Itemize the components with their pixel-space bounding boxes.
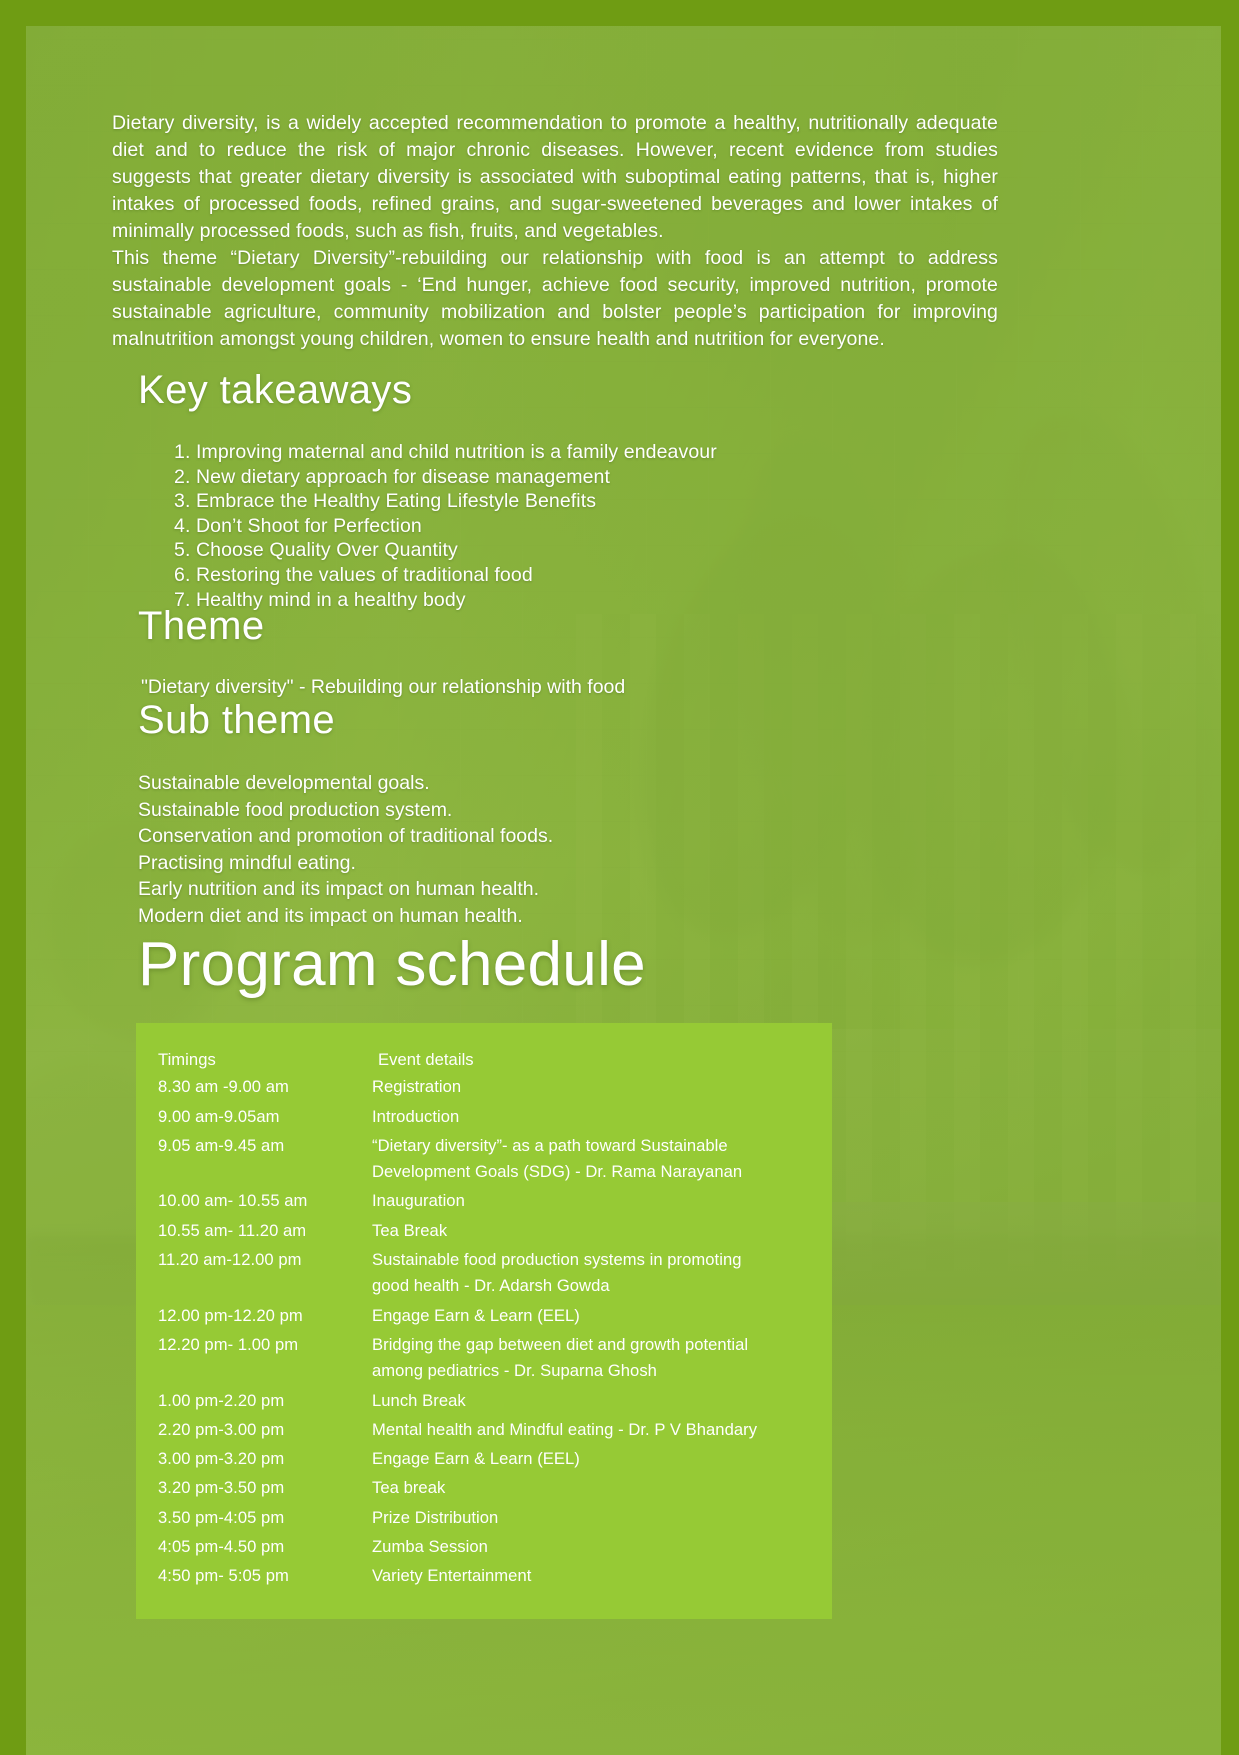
table-row: 10.00 am- 10.55 am Inauguration <box>158 1188 810 1217</box>
table-row: 4:05 pm-4.50 pm Zumba Session <box>158 1534 810 1563</box>
poster-root: Dietary diversity, is a widely accepted … <box>0 0 1239 1755</box>
schedule-detail-line: Engage Earn & Learn (EEL) <box>372 1449 580 1468</box>
schedule-detail-line: Inauguration <box>372 1191 465 1210</box>
schedule-time: 4:05 pm-4.50 pm <box>158 1534 370 1563</box>
schedule-detail: Mental health and Mindful eating - Dr. P… <box>370 1417 810 1446</box>
schedule-time: 2.20 pm-3.00 pm <box>158 1417 370 1446</box>
key-takeaways-list: Improving maternal and child nutrition i… <box>174 440 958 612</box>
schedule-detail-line: Tea break <box>372 1478 445 1497</box>
schedule-detail: Sustainable food production systems in p… <box>370 1247 810 1303</box>
schedule-time: 11.20 am-12.00 pm <box>158 1247 370 1303</box>
list-item: Sustainable developmental goals. <box>138 770 998 797</box>
list-item: Sustainable food production system. <box>138 797 998 824</box>
schedule-detail: Inauguration <box>370 1188 810 1217</box>
schedule-detail-line: Engage Earn & Learn (EEL) <box>372 1306 580 1325</box>
schedule-detail: Bridging the gap between diet and growth… <box>370 1332 810 1388</box>
schedule-time: 8.30 am -9.00 am <box>158 1074 370 1103</box>
schedule-detail: Tea break <box>370 1475 810 1504</box>
list-item: Improving maternal and child nutrition i… <box>174 440 958 465</box>
schedule-time: 9.05 am-9.45 am <box>158 1133 370 1189</box>
schedule-detail: Introduction <box>370 1104 810 1133</box>
table-header-row: Timings Event details <box>158 1047 810 1074</box>
sub-theme-list: Sustainable developmental goals. Sustain… <box>138 770 998 929</box>
table-row: 9.05 am-9.45 am “Dietary diversity”- as … <box>158 1133 810 1189</box>
schedule-detail-line: Tea Break <box>372 1221 447 1240</box>
schedule-time: 3.20 pm-3.50 pm <box>158 1475 370 1504</box>
table-row: 8.30 am -9.00 am Registration <box>158 1074 810 1103</box>
table-row: 1.00 pm-2.20 pm Lunch Break <box>158 1388 810 1417</box>
schedule-detail: “Dietary diversity”- as a path toward Su… <box>370 1133 810 1189</box>
schedule-detail-line: Prize Distribution <box>372 1508 498 1527</box>
schedule-time: 9.00 am-9.05am <box>158 1104 370 1133</box>
schedule-detail: Engage Earn & Learn (EEL) <box>370 1303 810 1332</box>
schedule-detail-line-2: good health - Dr. Adarsh Gowda <box>372 1273 810 1299</box>
schedule-detail-line: Lunch Break <box>372 1391 466 1410</box>
column-header-timings: Timings <box>158 1047 370 1074</box>
schedule-detail-line: “Dietary diversity”- as a path toward Su… <box>372 1136 728 1155</box>
table-row: 2.20 pm-3.00 pm Mental health and Mindfu… <box>158 1417 810 1446</box>
table-row: 12.20 pm- 1.00 pm Bridging the gap betwe… <box>158 1332 810 1388</box>
schedule-detail-line: Registration <box>372 1077 461 1096</box>
intro-paragraph-2: This theme “Dietary Diversity”-rebuildin… <box>112 245 998 353</box>
schedule-time: 12.20 pm- 1.00 pm <box>158 1332 370 1388</box>
theme-section: Theme "Dietary diversity" - Rebuilding o… <box>138 604 998 700</box>
schedule-time: 10.55 am- 11.20 am <box>158 1218 370 1247</box>
schedule-detail: Variety Entertainment <box>370 1563 810 1592</box>
intro-paragraphs: Dietary diversity, is a widely accepted … <box>112 110 998 353</box>
schedule-detail: Prize Distribution <box>370 1505 810 1534</box>
program-schedule-title: Program schedule <box>138 931 646 999</box>
list-item: Choose Quality Over Quantity <box>174 538 958 563</box>
table-row: 3.20 pm-3.50 pm Tea break <box>158 1475 810 1504</box>
table-row: 3.50 pm-4:05 pm Prize Distribution <box>158 1505 810 1534</box>
schedule-time: 1.00 pm-2.20 pm <box>158 1388 370 1417</box>
theme-title: Theme <box>138 604 998 648</box>
key-takeaways-section: Key takeaways Improving maternal and chi… <box>138 368 958 612</box>
schedule-time: 3.00 pm-3.20 pm <box>158 1446 370 1475</box>
table-row: 3.00 pm-3.20 pm Engage Earn & Learn (EEL… <box>158 1446 810 1475</box>
table-row: 4:50 pm- 5:05 pm Variety Entertainment <box>158 1563 810 1592</box>
schedule-detail-line: Bridging the gap between diet and growth… <box>372 1335 748 1354</box>
poster-panel: Dietary diversity, is a widely accepted … <box>26 26 1221 1755</box>
table-row: 10.55 am- 11.20 am Tea Break <box>158 1218 810 1247</box>
schedule-detail-line: Sustainable food production systems in p… <box>372 1250 742 1269</box>
schedule-time: 10.00 am- 10.55 am <box>158 1188 370 1217</box>
schedule-detail: Zumba Session <box>370 1534 810 1563</box>
schedule-detail: Registration <box>370 1074 810 1103</box>
schedule-detail-line: Introduction <box>372 1107 459 1126</box>
schedule-detail: Lunch Break <box>370 1388 810 1417</box>
theme-text: "Dietary diversity" - Rebuilding our rel… <box>141 674 998 700</box>
table-row: 9.00 am-9.05am Introduction <box>158 1104 810 1133</box>
list-item: Conservation and promotion of traditiona… <box>138 823 998 850</box>
schedule-detail: Engage Earn & Learn (EEL) <box>370 1446 810 1475</box>
table-row: 12.00 pm-12.20 pm Engage Earn & Learn (E… <box>158 1303 810 1332</box>
schedule-detail-line: Mental health and Mindful eating - Dr. P… <box>372 1420 757 1439</box>
intro-paragraph-1: Dietary diversity, is a widely accepted … <box>112 110 998 245</box>
sub-theme-title: Sub theme <box>138 698 998 742</box>
list-item: Restoring the values of traditional food <box>174 563 958 588</box>
sub-theme-section: Sub theme Sustainable developmental goal… <box>138 698 998 929</box>
key-takeaways-title: Key takeaways <box>138 368 958 412</box>
schedule-detail-line-2: among pediatrics - Dr. Suparna Ghosh <box>372 1358 810 1384</box>
schedule-detail-line-2: Development Goals (SDG) - Dr. Rama Naray… <box>372 1159 810 1185</box>
schedule-detail-line: Zumba Session <box>372 1537 488 1556</box>
schedule-table: Timings Event details 8.30 am -9.00 am R… <box>158 1047 810 1593</box>
list-item: Modern diet and its impact on human heal… <box>138 903 998 930</box>
table-row: 11.20 am-12.00 pm Sustainable food produ… <box>158 1247 810 1303</box>
schedule-time: 4:50 pm- 5:05 pm <box>158 1563 370 1592</box>
column-header-event-details: Event details <box>370 1047 810 1074</box>
schedule-time: 12.00 pm-12.20 pm <box>158 1303 370 1332</box>
list-item: New dietary approach for disease managem… <box>174 465 958 490</box>
list-item: Practising mindful eating. <box>138 850 998 877</box>
list-item: Embrace the Healthy Eating Lifestyle Ben… <box>174 489 958 514</box>
program-schedule-table: Timings Event details 8.30 am -9.00 am R… <box>136 1023 832 1619</box>
list-item: Early nutrition and its impact on human … <box>138 876 998 903</box>
schedule-detail-line: Variety Entertainment <box>372 1566 531 1585</box>
schedule-time: 3.50 pm-4:05 pm <box>158 1505 370 1534</box>
list-item: Don’t Shoot for Perfection <box>174 514 958 539</box>
schedule-detail: Tea Break <box>370 1218 810 1247</box>
